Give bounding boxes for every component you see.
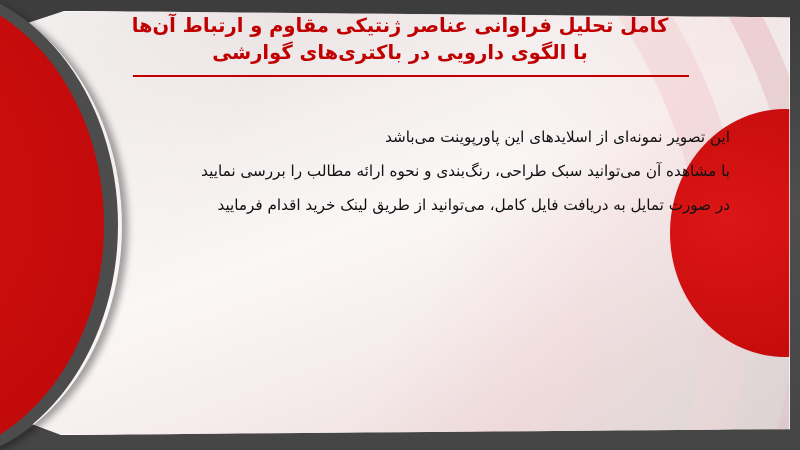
- slide-body-text: این تصویر نمونه‌ای از اسلایدهای این پاور…: [60, 120, 730, 222]
- slide-canvas: کامل تحلیل فراوانی عناصر ژنتیکی مقاوم و …: [0, 0, 800, 450]
- slide-title-line-1: کامل تحلیل فراوانی عناصر ژنتیکی مقاوم و …: [112, 12, 688, 39]
- slide-title-line-2: با الگوی دارویی در باکتری‌های گوارشی: [112, 39, 688, 66]
- slide-body-line-1: این تصویر نمونه‌ای از اسلایدهای این پاور…: [60, 120, 730, 154]
- slide-body-line-3: در صورت تمایل به دریافت فایل کامل، می‌تو…: [60, 188, 730, 222]
- slide-title: کامل تحلیل فراوانی عناصر ژنتیکی مقاوم و …: [0, 12, 800, 66]
- title-underline-rule: [133, 75, 689, 77]
- slide-body-line-2: با مشاهده آن می‌توانید سبک طراحی، رنگ‌بن…: [60, 154, 730, 188]
